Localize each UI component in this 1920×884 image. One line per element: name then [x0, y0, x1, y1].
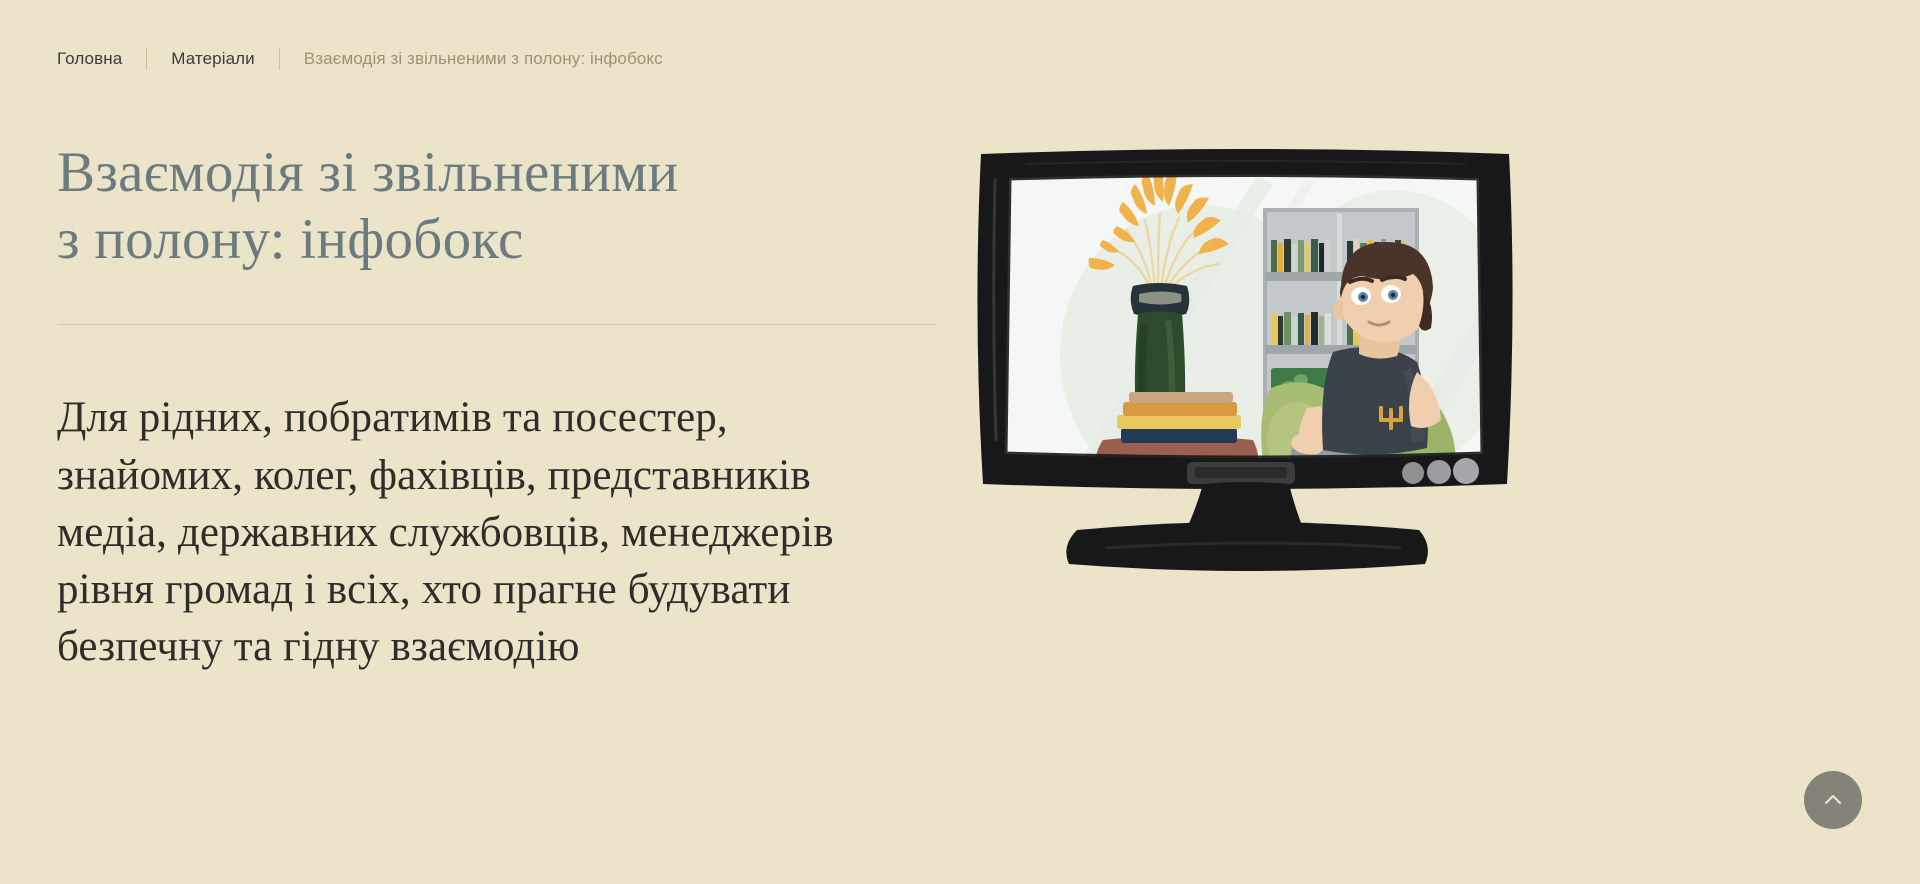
led-indicator	[1427, 460, 1451, 484]
tv-illustration-svg	[965, 140, 1525, 590]
page-title: Взаємодія зі звільненими з полону: інфоб…	[57, 140, 937, 273]
chevron-up-icon	[1820, 787, 1846, 813]
led-indicator	[1453, 458, 1479, 484]
tv-screen	[1005, 166, 1525, 505]
tv-stand	[1066, 482, 1428, 571]
title-divider	[57, 324, 937, 325]
breadcrumb-separator	[146, 48, 147, 70]
breadcrumb-item-current: Взаємодія зі звільненими з полону: інфоб…	[304, 49, 663, 69]
scroll-to-top-button[interactable]	[1804, 771, 1862, 829]
page-lede: Для рідних, побратимів та посестер, знай…	[57, 389, 937, 675]
led-indicator	[1402, 462, 1424, 484]
tv-illustration	[965, 140, 1525, 590]
main-content: Взаємодія зі звільненими з полону: інфоб…	[57, 140, 937, 675]
breadcrumb-separator	[279, 48, 280, 70]
breadcrumb-item-home[interactable]: Головна	[57, 49, 122, 69]
breadcrumb-item-materials[interactable]: Матеріали	[171, 49, 255, 69]
breadcrumb: Головна Матеріали Взаємодія зі звільнени…	[57, 48, 663, 70]
